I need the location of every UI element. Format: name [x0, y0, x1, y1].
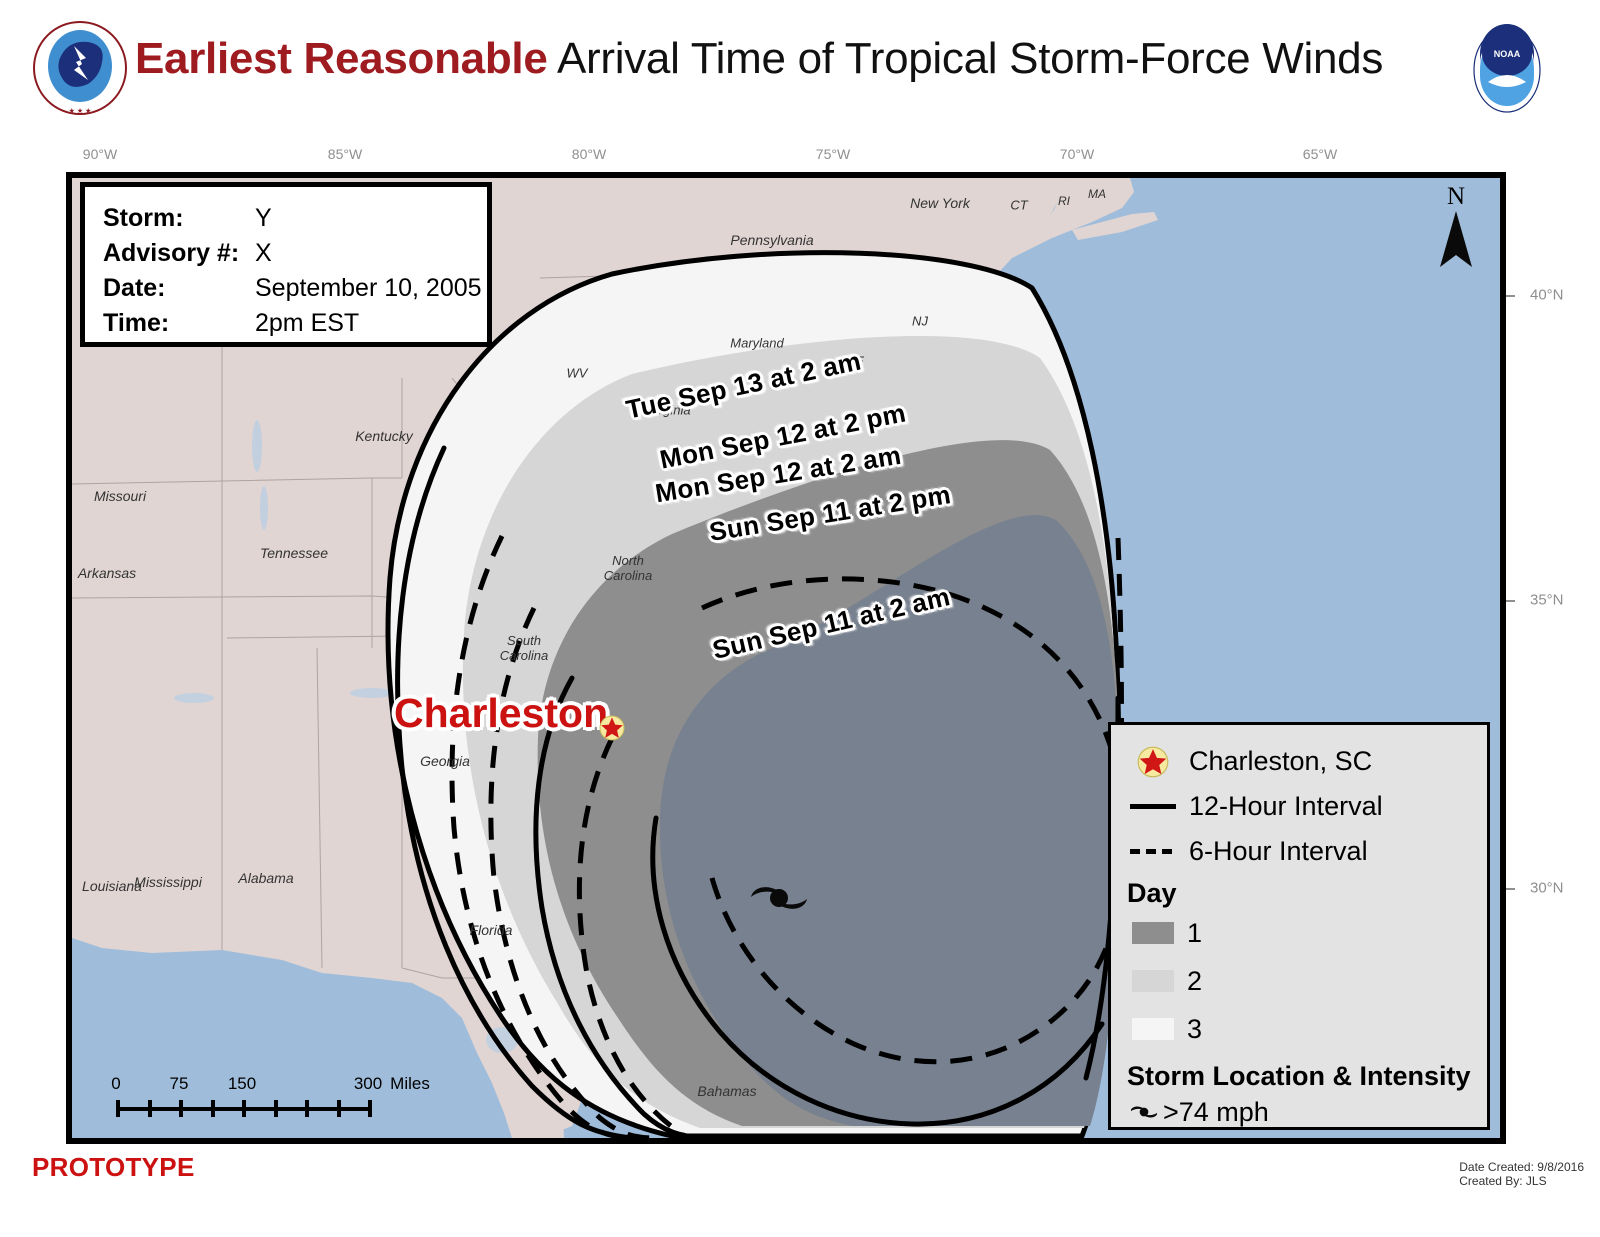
- geo-label-arkansas: Arkansas: [78, 565, 136, 581]
- legend-day-row-1: 1: [1127, 909, 1487, 957]
- scale-tick-label-75: 75: [170, 1074, 189, 1094]
- north-arrow-letter: N: [1434, 184, 1478, 209]
- scale-tick-8: [368, 1100, 372, 1117]
- longitude-label-1: 85°W: [328, 146, 362, 162]
- info-value-1: X: [255, 236, 272, 271]
- info-value-0: Y: [255, 201, 272, 236]
- solid-line-icon: [1127, 804, 1179, 809]
- legend-day-label-3: 3: [1187, 1014, 1202, 1045]
- latitude-label-0: 40°N: [1530, 287, 1564, 304]
- legend-swatch-day-3: [1127, 1018, 1179, 1040]
- geo-label-kentucky: Kentucky: [355, 428, 413, 444]
- hurricane-icon: [1127, 1099, 1161, 1125]
- longitude-label-2: 80°W: [572, 146, 606, 162]
- created-by: Created By: JLS: [1459, 1174, 1584, 1188]
- geo-label-bahamas: Bahamas: [697, 1083, 756, 1099]
- scale-tick-label-300: 300: [354, 1074, 382, 1094]
- scale-tick-7: [337, 1100, 341, 1117]
- star-marker-icon[interactable]: [599, 715, 625, 741]
- storm-info-box: Storm:YAdvisory #:XDate:September 10, 20…: [80, 182, 492, 347]
- geo-label-ma: MA: [1088, 187, 1106, 201]
- latitude-label-2: 30°N: [1530, 880, 1564, 897]
- national-weather-service-logo: ★ ★ ★: [30, 18, 130, 118]
- scale-tick-label-150: 150: [228, 1074, 256, 1094]
- svg-text:★ ★ ★: ★ ★ ★: [69, 107, 92, 115]
- geo-label-mississippi: Mississippi: [134, 874, 202, 890]
- geo-label-pennsylvania: Pennsylvania: [730, 232, 813, 248]
- date-created: Date Created: 9/8/2016: [1459, 1160, 1584, 1174]
- info-row-1: Advisory #:X: [103, 236, 487, 271]
- svg-text:NOAA: NOAA: [1494, 49, 1521, 59]
- legend-intensity-label: >74 mph: [1163, 1097, 1269, 1128]
- info-row-0: Storm:Y: [103, 201, 487, 236]
- geo-label-florida: Florida: [470, 922, 513, 938]
- geo-label-nj: NJ: [912, 314, 928, 329]
- geo-label-ct: CT: [1010, 198, 1027, 213]
- legend-swatch-day-2: [1127, 970, 1179, 992]
- geo-label-tennessee: Tennessee: [260, 545, 328, 561]
- geo-label-north-carolina: NorthCarolina: [604, 553, 652, 583]
- star-marker-icon: [1127, 746, 1179, 778]
- geo-label-louisiana: Louisiana: [82, 878, 142, 894]
- legend-swatch-day-1: [1127, 922, 1179, 944]
- scale-tick-5: [274, 1100, 278, 1117]
- geo-label-ri: RI: [1058, 194, 1070, 208]
- legend-day-label-2: 2: [1187, 966, 1202, 997]
- scale-tick-label-0: 0: [111, 1074, 120, 1094]
- info-row-3: Time:2pm EST: [103, 306, 487, 341]
- geo-label-wv: WV: [567, 366, 588, 381]
- city-label-charleston: Charleston: [394, 690, 608, 737]
- legend-6hour-label: 6-Hour Interval: [1189, 836, 1368, 867]
- map-scale-bar: 075150300Miles: [116, 1074, 416, 1116]
- scale-tick-3: [211, 1100, 215, 1117]
- north-arrow-icon: [1434, 209, 1478, 271]
- legend-row-6hour: 6-Hour Interval: [1127, 829, 1487, 874]
- info-value-2: September 10, 2005: [255, 271, 482, 306]
- legend-12hour-label: 12-Hour Interval: [1189, 791, 1383, 822]
- dashed-line-icon: [1127, 849, 1179, 854]
- page-title-rest: Arrival Time of Tropical Storm-Force Win…: [548, 34, 1384, 83]
- page-title-emphasis: Earliest Reasonable: [135, 34, 548, 83]
- geo-label-georgia: Georgia: [420, 753, 470, 769]
- latitude-label-1: 35°N: [1530, 592, 1564, 609]
- scale-tick-4: [242, 1100, 246, 1117]
- longitude-label-4: 70°W: [1060, 146, 1094, 162]
- legend-day-heading: Day: [1127, 878, 1487, 909]
- info-key-1: Advisory #:: [103, 236, 255, 271]
- creation-credits: Date Created: 9/8/2016 Created By: JLS: [1459, 1160, 1584, 1188]
- longitude-label-3: 75°W: [816, 146, 850, 162]
- info-row-2: Date:September 10, 2005: [103, 271, 487, 306]
- scale-tick-2: [179, 1100, 183, 1117]
- legend-day-swatches: 123: [1127, 909, 1487, 1053]
- info-key-2: Date:: [103, 271, 255, 306]
- latitude-tick-1: [1506, 600, 1515, 602]
- geo-label-missouri: Missouri: [94, 488, 146, 504]
- scale-tick-0: [116, 1100, 120, 1117]
- latitude-tick-0: [1506, 295, 1515, 297]
- legend-day-label-1: 1: [1187, 918, 1202, 949]
- longitude-label-0: 90°W: [83, 146, 117, 162]
- legend-row-city: Charleston, SC: [1127, 739, 1487, 784]
- scale-tick-1: [148, 1100, 152, 1117]
- geo-label-maryland: Maryland: [730, 336, 783, 351]
- page-title: Earliest Reasonable Arrival Time of Trop…: [135, 34, 1383, 84]
- latitude-tick-2: [1506, 888, 1515, 890]
- map-canvas[interactable]: MissouriArkansasTennesseeKentuckyMississ…: [66, 172, 1506, 1144]
- info-value-3: 2pm EST: [255, 306, 359, 341]
- legend-storm-heading: Storm Location & Intensity: [1127, 1061, 1487, 1092]
- geo-label-south-carolina: SouthCarolina: [500, 633, 548, 663]
- legend-row-12hour: 12-Hour Interval: [1127, 784, 1487, 829]
- info-key-0: Storm:: [103, 201, 255, 236]
- page-header: ★ ★ ★ Earliest Reasonable Arrival Time o…: [0, 0, 1600, 135]
- info-key-3: Time:: [103, 306, 255, 341]
- scale-unit-label: Miles: [390, 1074, 430, 1094]
- map-legend: Charleston, SC 12-Hour Interval 6-Hour I…: [1108, 722, 1490, 1130]
- legend-day-row-3: 3: [1127, 1005, 1487, 1053]
- scale-tick-6: [305, 1100, 309, 1117]
- legend-city-label: Charleston, SC: [1189, 746, 1372, 777]
- geo-label-new-york: New York: [910, 195, 970, 211]
- legend-day-row-2: 2: [1127, 957, 1487, 1005]
- north-arrow: N: [1434, 184, 1478, 276]
- prototype-watermark: PROTOTYPE: [32, 1152, 195, 1183]
- legend-row-intensity: >74 mph: [1127, 1092, 1487, 1132]
- geo-label-alabama: Alabama: [238, 870, 293, 886]
- noaa-logo: NOAA: [1468, 24, 1546, 116]
- longitude-label-5: 65°W: [1303, 146, 1337, 162]
